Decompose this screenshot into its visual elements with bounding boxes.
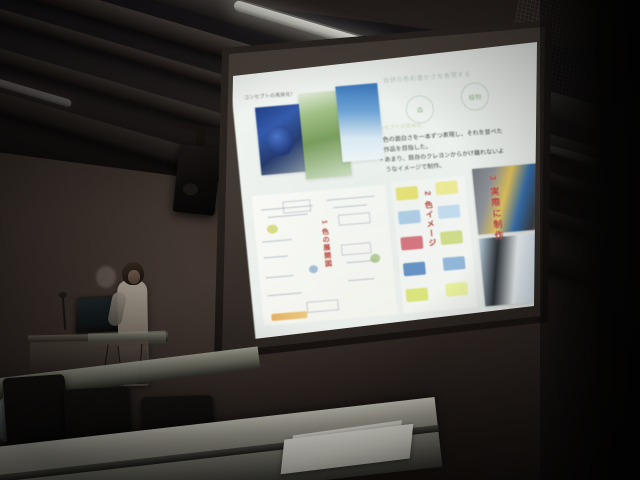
blue-sky-photo [335,83,384,162]
sketch-board-photo: 1 色の展開図 [252,185,398,326]
step-2-label: 2 色イメージ [422,191,439,249]
presenter-face [128,270,140,284]
wall-speaker [173,144,222,216]
sketch-signature [271,311,308,321]
lecture-room-photo: 自然の色彩豊かさを表現する 森 植物 コンセプトの具体化 コンセプトの具体化！ … [0,0,640,480]
background-figure [96,266,116,288]
slide-badge-b: 植物 [460,81,491,111]
slide-tag: コンセプトの具体化！ [244,91,296,102]
slide-badge-a: 森 [405,94,436,124]
speaker-cone-icon [182,183,198,197]
color-image-panel: 2 色イメージ [391,176,478,314]
slide-title: 自然の色彩豊かさを表現する [382,65,522,85]
dark-right-wall [540,0,640,480]
step-1-label: 1 色の展開図 [318,220,333,268]
